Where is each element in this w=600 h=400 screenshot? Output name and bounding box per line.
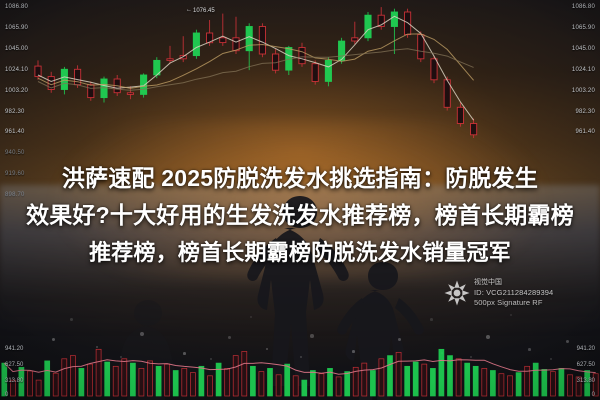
headline-line-3: 推荐榜，榜首长期霸榜防脱洗发水销量冠军 <box>0 234 600 271</box>
headline-line-2: 效果好?十大好用的生发洗发水推荐榜，榜首长期霸榜 <box>0 197 600 234</box>
watermark: 视觉中国 ID: VCG211284289394 500px Signature… <box>444 276 596 310</box>
screenshot-canvas: 1086.801065.901045.001024.101003.20982.3… <box>0 0 600 400</box>
watermark-text-block: 视觉中国 ID: VCG211284289394 500px Signature… <box>474 279 553 307</box>
watermark-id: ID: VCG211284289394 <box>474 288 553 297</box>
starburst-icon-svg <box>444 280 470 306</box>
watermark-brand: 视觉中国 <box>474 279 553 287</box>
watermark-signature: 500px Signature RF <box>474 298 553 307</box>
headline-line-1: 洪萨速配 2025防脱洗发水挑选指南：防脱发生 <box>0 160 600 197</box>
starburst-icon <box>444 280 470 306</box>
headline-text: 洪萨速配 2025防脱洗发水挑选指南：防脱发生 效果好?十大好用的生发洗发水推荐… <box>0 160 600 271</box>
